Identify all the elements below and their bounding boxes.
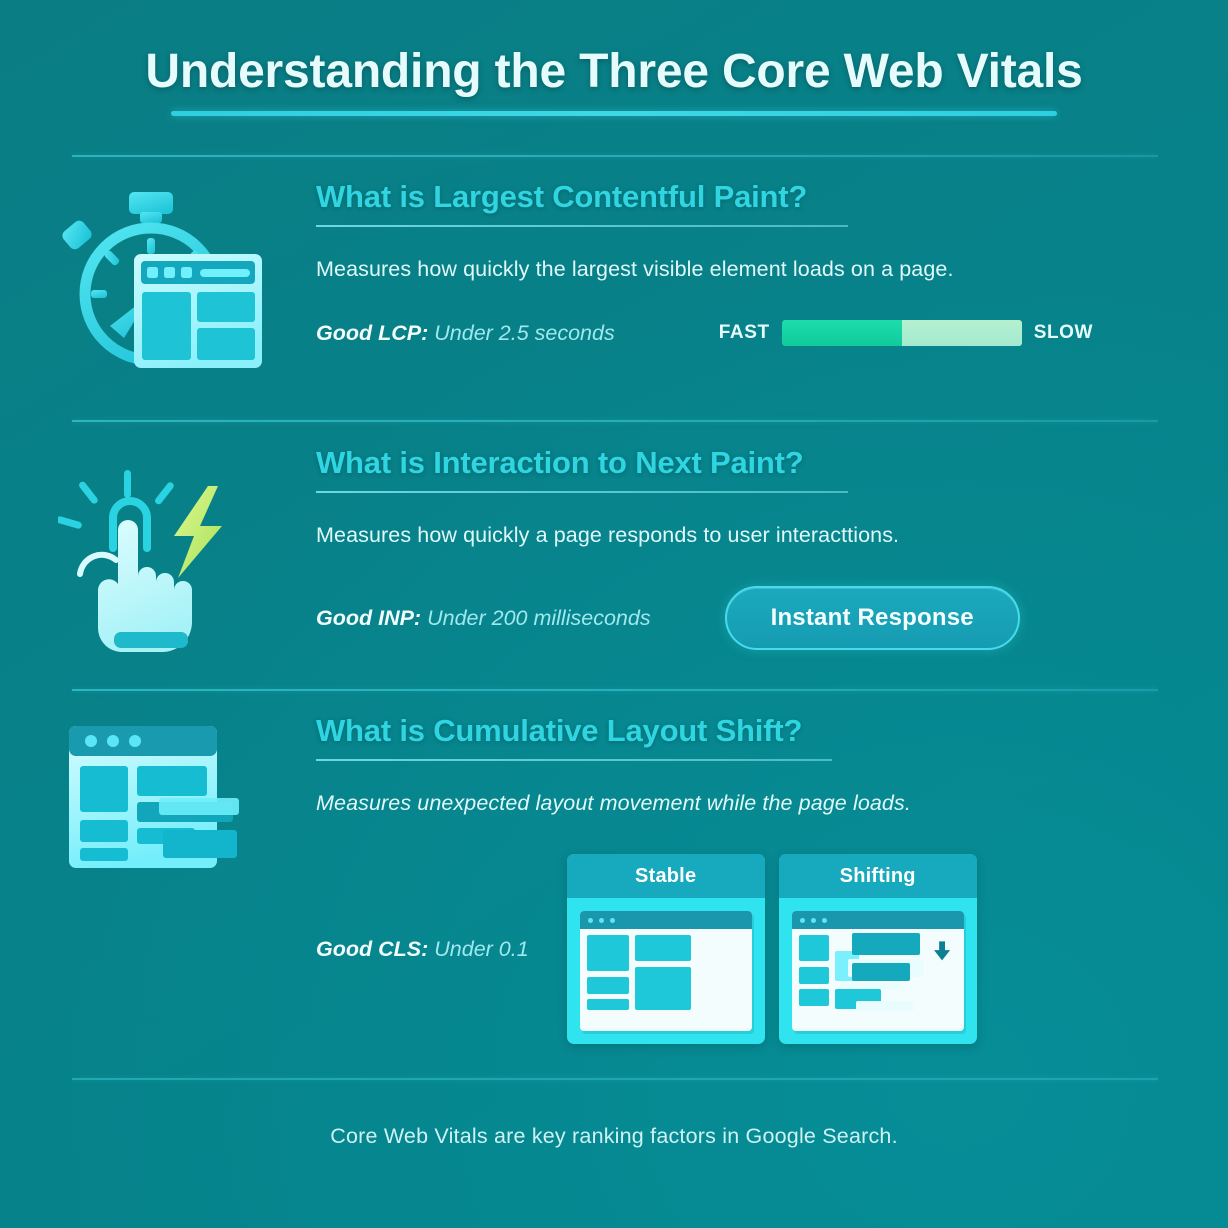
inp-text-column: What is Interaction to Next Paint? Measu… bbox=[316, 444, 1228, 650]
inp-metric-row: Good INP: Under 200 milliseconds Instant… bbox=[316, 586, 1168, 650]
layout-block bbox=[587, 999, 629, 1010]
lcp-text-column: What is Largest Contentful Paint? Measur… bbox=[316, 178, 1228, 346]
mini-browser-stable bbox=[580, 911, 752, 1031]
window-dot-icon bbox=[822, 918, 827, 923]
cls-icon-column bbox=[0, 712, 316, 880]
section-cls: What is Cumulative Layout Shift? Measure… bbox=[0, 712, 1228, 1044]
card-shifting-body bbox=[779, 898, 977, 1044]
cls-heading: What is Cumulative Layout Shift? bbox=[316, 712, 1168, 749]
section-divider-top bbox=[72, 155, 1158, 157]
inp-heading: What is Interaction to Next Paint? bbox=[316, 444, 1168, 481]
lcp-metric-row: Good LCP: Under 2.5 seconds FAST SLOW bbox=[316, 320, 1168, 346]
window-dot-icon bbox=[599, 918, 604, 923]
card-stable[interactable]: Stable bbox=[567, 854, 765, 1044]
inp-description: Measures how quickly a page responds to … bbox=[316, 521, 1168, 550]
inp-metric-value: Under 200 milliseconds bbox=[427, 606, 650, 630]
layout-block bbox=[635, 935, 691, 961]
window-dot-icon bbox=[800, 918, 805, 923]
gauge-slow-fill bbox=[902, 320, 1022, 346]
layout-block bbox=[799, 967, 829, 984]
cls-heading-underline bbox=[316, 759, 832, 761]
footer-note: Core Web Vitals are key ranking factors … bbox=[0, 1124, 1228, 1149]
mini-content bbox=[580, 929, 752, 1031]
layout-block bbox=[799, 935, 829, 961]
layout-block bbox=[799, 989, 829, 1006]
stable-layout-icon bbox=[580, 911, 752, 1031]
inp-metric-label: Good INP: bbox=[316, 606, 421, 630]
card-shifting-title: Shifting bbox=[779, 854, 977, 898]
mini-browser-shifting bbox=[792, 911, 964, 1031]
section-inp: What is Interaction to Next Paint? Measu… bbox=[0, 444, 1228, 652]
gauge-slow-label: SLOW bbox=[1034, 322, 1093, 344]
cls-metric-label: Good CLS: bbox=[316, 937, 428, 961]
lcp-metric-label: Good LCP: bbox=[316, 321, 428, 345]
page-title: Understanding the Three Core Web Vitals bbox=[0, 44, 1228, 99]
lcp-heading: What is Largest Contentful Paint? bbox=[316, 178, 1168, 215]
lcp-heading-underline bbox=[316, 225, 848, 227]
card-shifting[interactable]: Shifting bbox=[779, 854, 977, 1044]
section-divider-2 bbox=[72, 689, 1158, 691]
inp-metric: Good INP: Under 200 milliseconds bbox=[316, 606, 651, 631]
cls-comparison-cards: Stable bbox=[567, 854, 977, 1044]
window-dot-icon bbox=[610, 918, 615, 923]
fast-slow-gauge: FAST SLOW bbox=[719, 320, 1093, 346]
cls-metric: Good CLS: Under 0.1 bbox=[316, 937, 529, 962]
shifting-layout-browser-icon bbox=[63, 720, 253, 880]
cls-metric-value: Under 0.1 bbox=[434, 937, 528, 961]
shifting-layout-icon bbox=[792, 911, 964, 1031]
shifted-block bbox=[852, 963, 910, 981]
page-title-block: Understanding the Three Core Web Vitals bbox=[0, 44, 1228, 116]
mini-titlebar bbox=[792, 911, 964, 929]
cls-metric-row: Good CLS: Under 0.1 Stable bbox=[316, 854, 1168, 1044]
infographic-page: Understanding the Three Core Web Vitals bbox=[0, 0, 1228, 1228]
window-dot-icon bbox=[811, 918, 816, 923]
cls-description: Measures unexpected layout movement whil… bbox=[316, 789, 1168, 818]
window-dot-icon bbox=[588, 918, 593, 923]
shift-arrow-icon bbox=[925, 937, 959, 971]
card-stable-body bbox=[567, 898, 765, 1044]
stopwatch-browser-icon bbox=[50, 186, 266, 376]
layout-block bbox=[587, 935, 629, 971]
gauge-bar bbox=[782, 320, 1022, 346]
title-underline-rule bbox=[171, 111, 1057, 116]
gauge-fast-label: FAST bbox=[719, 322, 770, 344]
lcp-description: Measures how quickly the largest visible… bbox=[316, 255, 1168, 284]
tap-hand-lightning-icon bbox=[58, 452, 258, 652]
section-divider-1 bbox=[72, 420, 1158, 422]
shifted-block bbox=[852, 933, 920, 955]
layout-block bbox=[587, 977, 629, 994]
gauge-fast-fill bbox=[782, 320, 902, 346]
layout-block bbox=[635, 967, 691, 1010]
card-stable-title: Stable bbox=[567, 854, 765, 898]
lcp-metric: Good LCP: Under 2.5 seconds bbox=[316, 321, 615, 346]
section-lcp: What is Largest Contentful Paint? Measur… bbox=[0, 178, 1228, 376]
instant-response-badge[interactable]: Instant Response bbox=[725, 586, 1020, 650]
lcp-metric-value: Under 2.5 seconds bbox=[434, 321, 614, 345]
shifted-block bbox=[856, 1001, 914, 1011]
inp-heading-underline bbox=[316, 491, 848, 493]
lcp-icon-column bbox=[0, 178, 316, 376]
inp-icon-column bbox=[0, 444, 316, 652]
section-divider-bottom bbox=[72, 1078, 1158, 1080]
mini-titlebar bbox=[580, 911, 752, 929]
cls-text-column: What is Cumulative Layout Shift? Measure… bbox=[316, 712, 1228, 1044]
